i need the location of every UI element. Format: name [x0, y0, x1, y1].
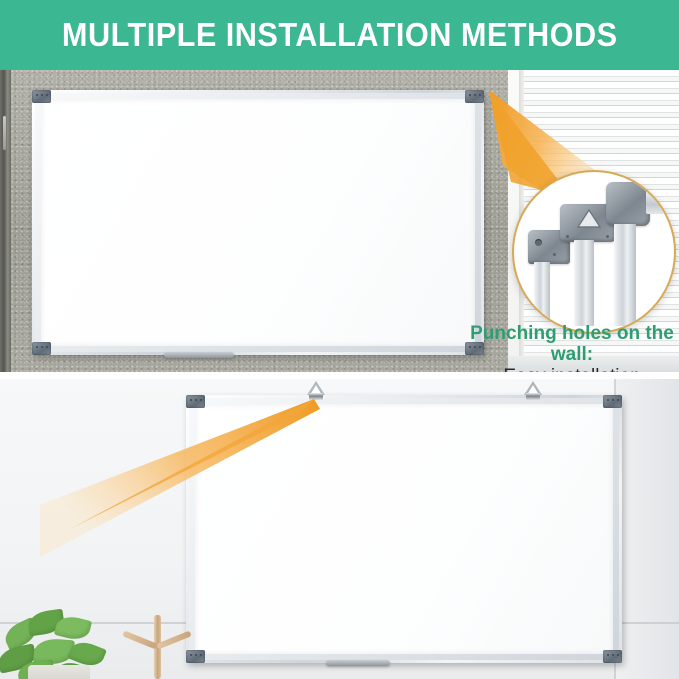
corner-bracket-bottom-panel-top-left [186, 395, 205, 408]
plant-pot [28, 665, 90, 679]
page-title: MULTIPLE INSTALLATION METHODS [62, 16, 618, 54]
room-side-wall [616, 379, 679, 679]
corner-bracket-bottom-panel-bottom-right [603, 650, 622, 663]
product-infographic: MULTIPLE INSTALLATION METHODS [0, 0, 679, 679]
pen-tray-bottom [326, 660, 390, 666]
hanging-hook-left [306, 381, 326, 397]
hanging-hook-right [523, 381, 543, 397]
corner-bracket-top-right [465, 90, 484, 103]
whiteboard-bottom [186, 395, 622, 663]
callout-top-highlight: Punching holes on the wall: [466, 323, 678, 366]
magnifier-corner-brackets [512, 170, 676, 334]
wooden-coat-rack [122, 615, 194, 679]
corner-bracket-bottom-panel-top-right [603, 395, 622, 408]
callout-top: Punching holes on the wall: Easy install… [466, 323, 678, 372]
wall-bracket-large [606, 182, 676, 326]
corner-bracket-bottom-left [32, 342, 51, 355]
whiteboard-surface-bottom [195, 404, 613, 654]
corner-bracket-top-left [32, 90, 51, 103]
whiteboard-top [32, 90, 484, 355]
header-banner: MULTIPLE INSTALLATION METHODS [0, 0, 679, 70]
panel-divider [0, 372, 679, 379]
door-jamb [0, 70, 11, 372]
pen-tray-top [164, 352, 234, 358]
panel-top-punching-method: Punching holes on the wall: Easy install… [0, 70, 679, 372]
panel-bottom-hook-method: No punching: Hang it up with a hook [0, 379, 679, 679]
whiteboard-surface-top [41, 99, 475, 346]
